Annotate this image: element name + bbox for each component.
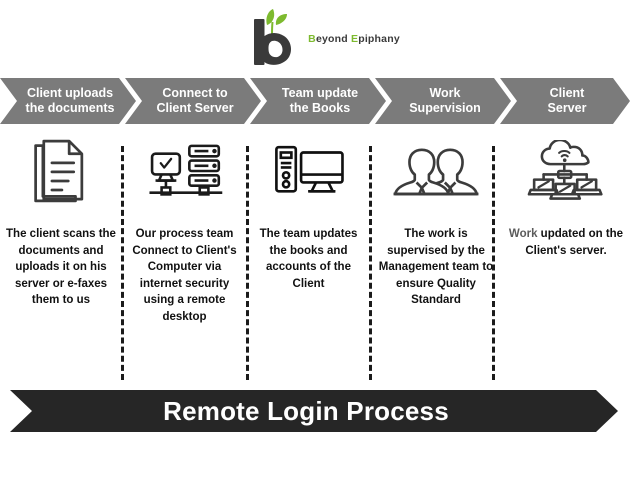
step-column-2: Our process team Connect to Client's Com…: [122, 130, 247, 380]
step-icon-wrapper-4: [390, 134, 482, 212]
column-divider-2: [246, 146, 249, 380]
step-header-chevron-4[interactable]: Work Supervision: [375, 78, 511, 124]
step-header-chevron-1[interactable]: Client uploads the documents: [0, 78, 136, 124]
brand-logo: Beyond Epiphany: [0, 0, 630, 72]
step-icon-wrapper-5: [526, 134, 606, 212]
step-header-chevron-2[interactable]: Connect to Client Server: [125, 78, 261, 124]
step-header-chevron-5[interactable]: Client Server: [500, 78, 630, 124]
beyond-epiphany-leaf-b-icon: [246, 5, 302, 67]
cloud-network-laptops-icon: [526, 140, 606, 207]
step-icon-wrapper-1: [32, 134, 90, 212]
column-divider-1: [121, 146, 124, 380]
step-column-1: The client scans the documents and uploa…: [0, 130, 122, 380]
step-icon-wrapper-3: [272, 134, 346, 212]
brand-word-two-rest: piphany: [358, 33, 400, 45]
brand-letter-b: B: [308, 33, 316, 45]
step-body-text-2: Our process team Connect to Client's Com…: [122, 226, 247, 325]
step-body-text-3: The team updates the books and accounts …: [247, 226, 370, 292]
step-header-chevron-3[interactable]: Team update the Books: [250, 78, 386, 124]
step-body-rest-5: updated on the Client's server.: [525, 228, 623, 257]
process-step-header-band: Client uploads the documents Connect to …: [0, 78, 630, 124]
desktop-computer-icon: [272, 143, 346, 204]
brand-word-one-rest: eyond: [316, 33, 348, 45]
step-body-text-1: The client scans the documents and uploa…: [0, 226, 122, 309]
step-body-text-4: The work is supervised by the Management…: [370, 226, 502, 309]
step-column-4: The work is supervised by the Management…: [370, 130, 502, 380]
column-divider-3: [369, 146, 372, 380]
step-header-label-4: Work Supervision: [397, 86, 489, 116]
process-title-ribbon: Remote Login Process: [10, 390, 618, 432]
step-header-label-2: Connect to Client Server: [144, 86, 241, 116]
process-title-label: Remote Login Process: [163, 396, 449, 427]
server-connection-icon: [146, 143, 224, 204]
step-header-label-3: Team update the Books: [270, 86, 366, 116]
step-header-label-5: Client Server: [536, 86, 595, 116]
column-divider-4: [492, 146, 495, 380]
step-header-label-1: Client uploads the documents: [14, 86, 123, 116]
brand-letter-e: E: [351, 33, 358, 45]
documents-stack-icon: [32, 138, 90, 209]
two-businessmen-icon: [390, 144, 482, 203]
step-icon-wrapper-2: [146, 134, 224, 212]
process-step-columns: The client scans the documents and uploa…: [0, 130, 630, 380]
step-column-3: The team updates the books and accounts …: [247, 130, 370, 380]
step-body-text-5: Work updated on the Client's server.: [502, 226, 630, 259]
brand-wordmark: Beyond Epiphany: [308, 33, 400, 45]
step-body-lead-5: Work: [509, 228, 538, 240]
step-column-5: Work updated on the Client's server.: [502, 130, 630, 380]
infographic-page: Beyond Epiphany Client uploads the docum…: [0, 0, 630, 502]
